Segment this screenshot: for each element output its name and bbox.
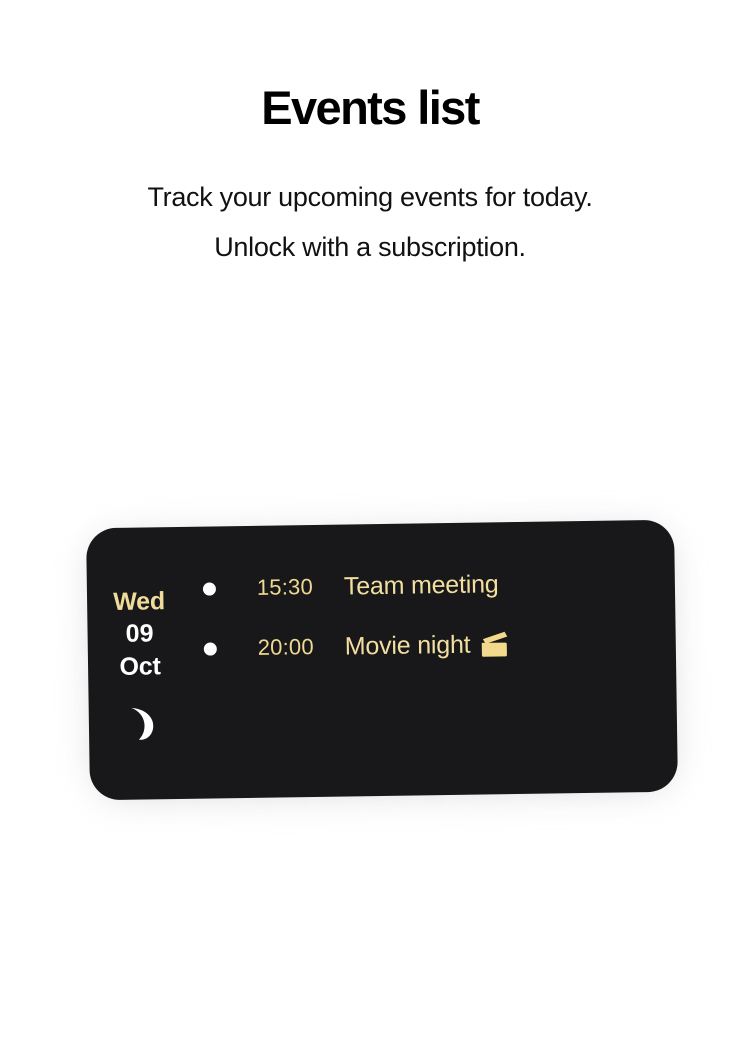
event-row[interactable]: 20:00 Movie night bbox=[191, 612, 676, 679]
app-page: Events list Track your upcoming events f… bbox=[0, 0, 740, 1040]
event-time: 20:00 bbox=[228, 634, 314, 661]
event-bullet-cell bbox=[191, 582, 227, 596]
crescent-moon-icon bbox=[124, 705, 159, 742]
event-title: Team meeting bbox=[344, 570, 499, 601]
page-subtitle: Track your upcoming events for today. Un… bbox=[0, 134, 740, 272]
event-title: Movie night bbox=[345, 630, 471, 661]
event-time: 15:30 bbox=[227, 574, 313, 601]
card-surface[interactable]: Wed 09 Oct 15:30 bbox=[86, 520, 678, 801]
header: Events list Track your upcoming events f… bbox=[0, 0, 740, 272]
bullet-dot-icon bbox=[203, 642, 216, 655]
event-bullet-cell bbox=[192, 642, 228, 656]
event-title-wrap: Team meeting bbox=[313, 570, 499, 602]
event-emoji-wrap bbox=[479, 631, 509, 658]
subtitle-line-1: Track your upcoming events for today. bbox=[0, 172, 740, 222]
date-weekday: Wed bbox=[87, 585, 191, 619]
event-row[interactable]: 15:30 Team meeting bbox=[190, 552, 675, 619]
bullet-dot-icon bbox=[202, 582, 215, 595]
card-content: Wed 09 Oct 15:30 bbox=[86, 520, 678, 801]
clapper-board-icon bbox=[479, 631, 509, 658]
date-column: Wed 09 Oct bbox=[86, 527, 193, 743]
subtitle-line-2: Unlock with a subscription. bbox=[0, 222, 740, 272]
events-widget-card[interactable]: Wed 09 Oct 15:30 bbox=[86, 520, 678, 801]
events-list: 15:30 Team meeting 20:00 Movie night bbox=[190, 520, 676, 679]
event-title-wrap: Movie night bbox=[314, 630, 510, 662]
date-day-number: 09 bbox=[87, 617, 191, 652]
date-month: Oct bbox=[88, 650, 192, 685]
moon-phase-wrap bbox=[89, 705, 194, 743]
page-title: Events list bbox=[0, 0, 740, 134]
